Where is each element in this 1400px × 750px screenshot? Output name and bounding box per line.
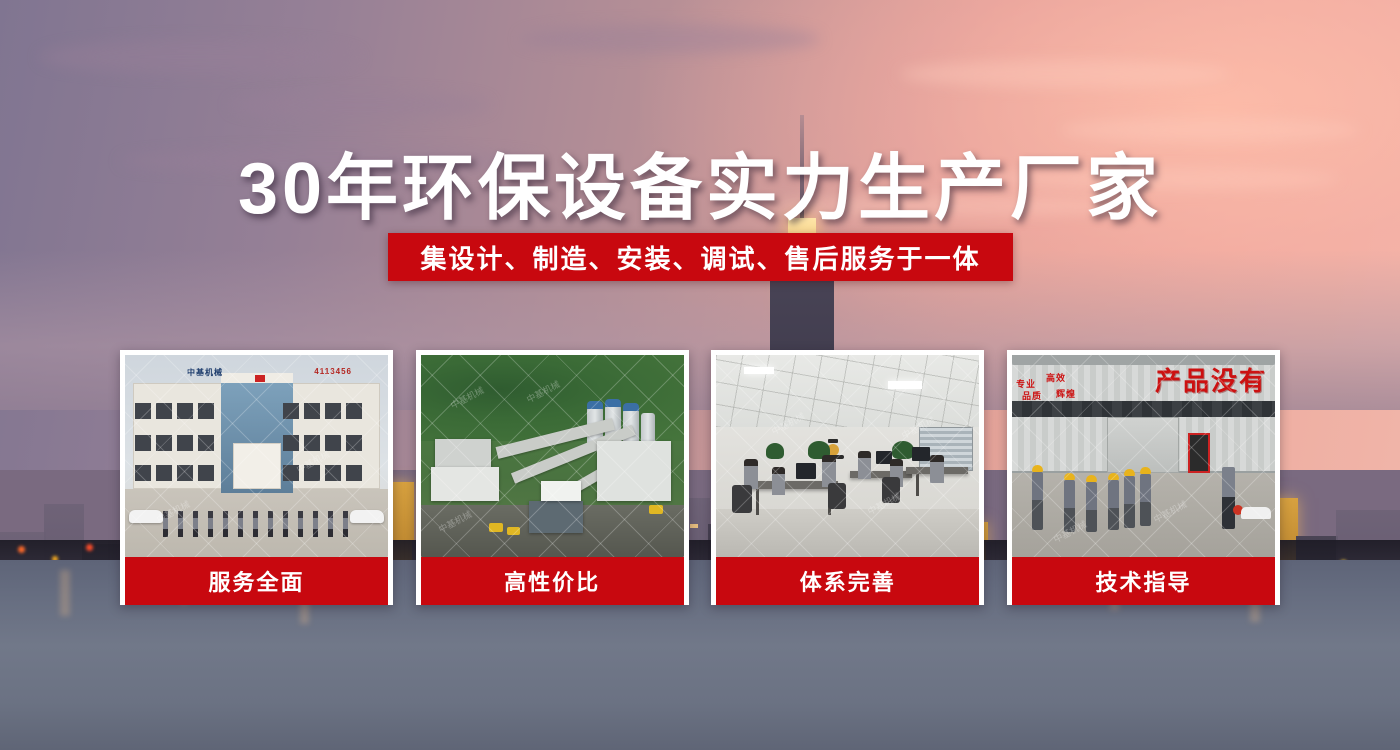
factory-workers-training-photo: 产品没有 专业 高效 品质 辉煌 bbox=[1012, 355, 1275, 557]
cloud-shape bbox=[900, 60, 1230, 88]
feature-card[interactable]: 中基机械 4113456 bbox=[120, 350, 393, 605]
feature-card[interactable]: 中基机械 中基机械 中基机械 体系完善 bbox=[711, 350, 984, 605]
office-interior-photo: 中基机械 中基机械 中基机械 bbox=[716, 355, 979, 557]
building-signage: 中基机械 bbox=[187, 367, 223, 378]
ceiling-light bbox=[888, 381, 922, 389]
subtitle-banner: 集设计、制造、安装、调试、售后服务于一体 bbox=[388, 233, 1013, 281]
ceiling-light bbox=[744, 367, 774, 374]
subtitle-text: 集设计、制造、安装、调试、售后服务于一体 bbox=[420, 239, 980, 276]
promotional-banner: 30年环保设备实力生产厂家 集设计、制造、安装、调试、售后服务于一体 中基机械 … bbox=[0, 0, 1400, 750]
feature-card[interactable]: 产品没有 专业 高效 品质 辉煌 bbox=[1007, 350, 1280, 605]
flag-icon bbox=[255, 375, 265, 382]
feature-card[interactable]: 中基机械 中基机械 中基机械 高性价比 bbox=[416, 350, 689, 605]
factory-signage-small: 辉煌 bbox=[1056, 387, 1076, 400]
company-headquarters-photo: 中基机械 4113456 bbox=[125, 355, 388, 557]
building-phone-number: 4113456 bbox=[314, 367, 352, 376]
cloud-shape bbox=[40, 40, 360, 74]
feature-card-label: 高性价比 bbox=[421, 557, 684, 605]
cloud-shape bbox=[230, 92, 490, 118]
feature-card-label: 体系完善 bbox=[716, 557, 979, 605]
production-plant-aerial-photo: 中基机械 中基机械 中基机械 bbox=[421, 355, 684, 557]
page-title: 30年环保设备实力生产厂家 bbox=[0, 129, 1400, 234]
cloud-shape bbox=[520, 24, 820, 54]
feature-card-label: 技术指导 bbox=[1012, 557, 1275, 605]
feature-card-list: 中基机械 4113456 bbox=[120, 350, 1280, 605]
factory-signage-small: 高效 bbox=[1046, 371, 1066, 384]
factory-signage-large: 产品没有 bbox=[1155, 361, 1267, 398]
feature-card-label: 服务全面 bbox=[125, 557, 388, 605]
